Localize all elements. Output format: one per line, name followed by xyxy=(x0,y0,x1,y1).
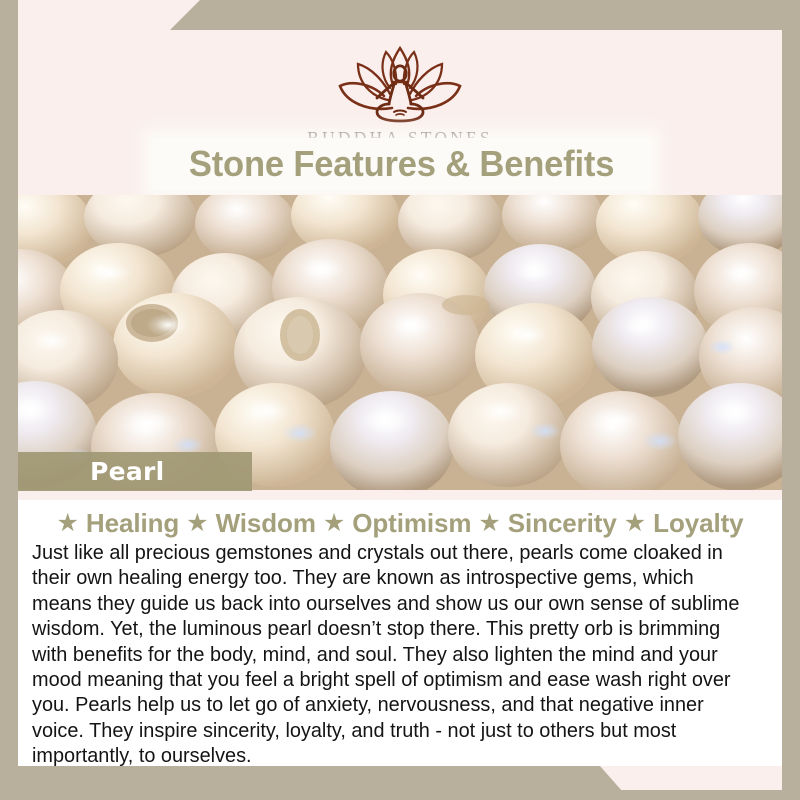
star-icon: ★ xyxy=(57,511,79,536)
keyword-wisdom: Wisdom xyxy=(216,508,316,539)
infographic-page: BUDDHA STONES Stone Features & Benefits xyxy=(0,0,800,800)
pearl-photo xyxy=(0,195,782,490)
star-icon: ★ xyxy=(478,511,500,536)
description-text: Just like all precious gemstones and cry… xyxy=(32,541,757,770)
lotus-meditation-logo-icon xyxy=(334,42,466,126)
star-icon: ★ xyxy=(323,511,345,536)
content-panel: ★ Healing ★ Wisdom ★ Optimism ★ Sincerit… xyxy=(18,500,782,766)
pearl-photo-image xyxy=(0,195,782,490)
page-title: Stone Features & Benefits xyxy=(189,143,614,185)
frame-right-band xyxy=(782,0,800,800)
star-icon: ★ xyxy=(624,511,646,536)
keyword-healing: Healing xyxy=(86,508,179,539)
keyword-optimism: Optimism xyxy=(352,508,471,539)
title-banner: Stone Features & Benefits xyxy=(152,138,652,190)
frame-left-band xyxy=(0,0,18,800)
keyword-sincerity: Sincerity xyxy=(508,508,617,539)
stone-name-banner: Pearl xyxy=(18,452,252,491)
keyword-loyalty: Loyalty xyxy=(653,508,743,539)
star-icon: ★ xyxy=(186,511,208,536)
stone-name: Pearl xyxy=(90,457,165,486)
keyword-list: ★ Healing ★ Wisdom ★ Optimism ★ Sincerit… xyxy=(32,508,768,539)
